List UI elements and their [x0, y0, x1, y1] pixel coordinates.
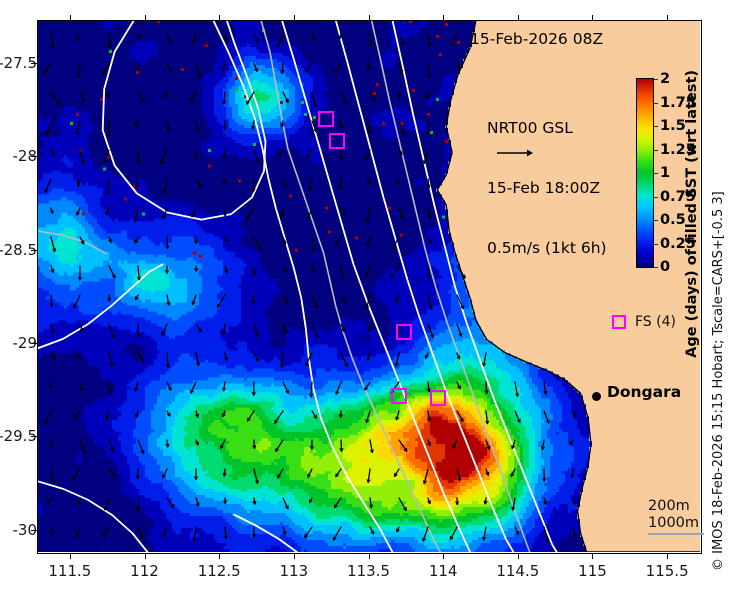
- x-tick-label: 115: [578, 562, 607, 580]
- colorbar-tick: [654, 126, 658, 127]
- colorbar-tick: [654, 244, 658, 245]
- x-tick: [592, 553, 593, 559]
- y-tick-label: -30: [13, 521, 38, 539]
- x-tick: [369, 553, 370, 559]
- float-box[interactable]: [396, 324, 412, 340]
- x-tick-top: [294, 15, 295, 20]
- y-tick-label: -29: [13, 334, 38, 352]
- float-box[interactable]: [329, 133, 345, 149]
- float-legend-label: FS (4): [635, 314, 676, 330]
- x-tick: [518, 553, 519, 559]
- y-tick-label: -28.5: [0, 241, 37, 259]
- x-tick-label: 113: [280, 562, 309, 580]
- model-valid-time: 15-Feb 18:00Z: [487, 178, 607, 198]
- model-name: NRT00 GSL: [487, 118, 607, 138]
- x-tick: [145, 553, 146, 559]
- colorbar-tick-label: 2: [660, 71, 670, 87]
- x-tick-top: [145, 15, 146, 20]
- y-tick-label: -28: [13, 147, 38, 165]
- depth-1000m-label: 1000m: [648, 515, 704, 532]
- x-tick: [70, 553, 71, 559]
- depth-200m-label: 200m: [648, 498, 704, 515]
- float-box[interactable]: [430, 390, 446, 406]
- x-tick-label: 113.5: [347, 562, 390, 580]
- colorbar: 00.250.50.7511.251.51.752: [636, 78, 654, 268]
- x-tick-label: 112.5: [198, 562, 241, 580]
- y-tick-label: -29.5: [0, 427, 37, 445]
- date-stamp: 15-Feb-2026 08Z: [470, 30, 603, 48]
- colorbar-tick: [654, 197, 658, 198]
- colorbar-tick: [654, 103, 658, 104]
- colorbar-tick-label: 1.5: [660, 118, 686, 134]
- x-tick-top: [219, 15, 220, 20]
- colorbar-title: Age (days) of filled SST (wrt latest): [684, 70, 700, 358]
- x-tick: [443, 553, 444, 559]
- dongara-marker-dot: [592, 392, 601, 401]
- y-tick-label: -27.5: [0, 54, 37, 72]
- x-tick: [294, 553, 295, 559]
- colorbar-tick-label: 1: [660, 165, 670, 181]
- x-tick-top: [518, 15, 519, 20]
- float-box[interactable]: [391, 388, 407, 404]
- colorbar-tick: [654, 173, 658, 174]
- model-speed-scale: 0.5m/s (1kt 6h): [487, 238, 607, 258]
- x-tick-top: [369, 15, 370, 20]
- colorbar-tick: [654, 267, 658, 268]
- bathymetry-scale-legend: 200m 1000m: [648, 498, 704, 535]
- colorbar-tick: [654, 220, 658, 221]
- model-info-block: NRT00 GSL 15-Feb 18:00Z 0.5m/s (1kt 6h): [487, 78, 607, 278]
- colorbar-gradient: [636, 78, 654, 268]
- dongara-label: Dongara: [607, 383, 681, 401]
- credit-text: © IMOS 18-Feb-2026 15:15 Hobart; Tscale=…: [711, 191, 726, 571]
- colorbar-tick: [654, 79, 658, 80]
- x-tick: [219, 553, 220, 559]
- x-tick-label: 111.5: [48, 562, 91, 580]
- colorbar-tick: [654, 150, 658, 151]
- colorbar-tick-label: 0.5: [660, 212, 686, 228]
- scale-bar-line: [648, 533, 704, 535]
- x-tick-label: 115.5: [646, 562, 689, 580]
- float-legend-swatch: [612, 315, 626, 329]
- x-tick-top: [667, 15, 668, 20]
- x-tick-label: 114: [429, 562, 458, 580]
- x-tick-label: 114.5: [496, 562, 539, 580]
- x-tick-top: [592, 15, 593, 20]
- float-legend: FS (4): [612, 314, 676, 330]
- x-tick-label: 112: [130, 562, 159, 580]
- colorbar-tick-label: 0: [660, 259, 670, 275]
- x-tick: [667, 553, 668, 559]
- x-tick-top: [443, 15, 444, 20]
- velocity-reference-arrow-icon: [497, 148, 533, 158]
- float-box[interactable]: [318, 111, 334, 127]
- x-tick-top: [70, 15, 71, 20]
